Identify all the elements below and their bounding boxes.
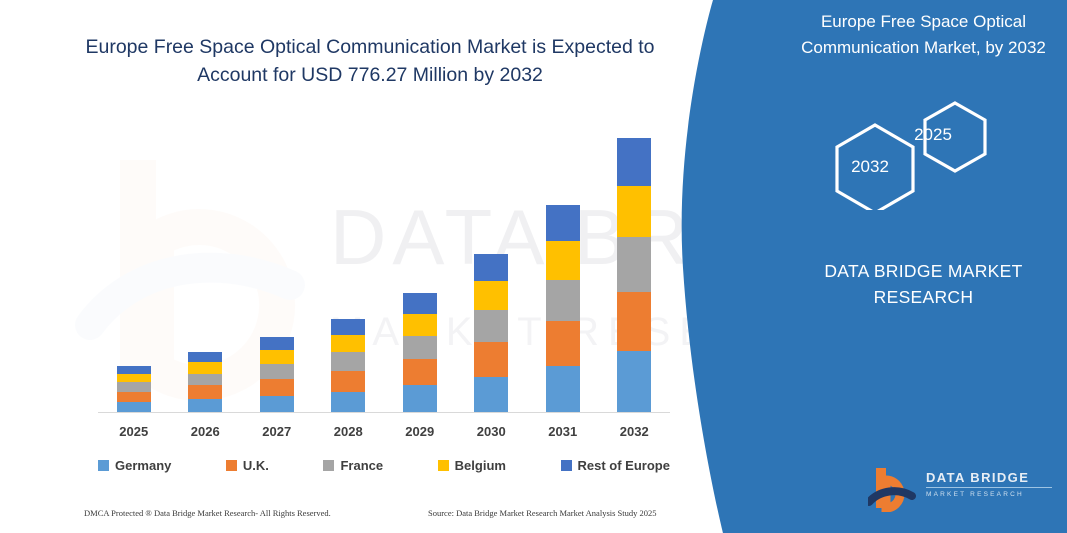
chart-bar-segment <box>546 280 580 321</box>
chart-bar-segment <box>617 138 651 185</box>
chart-x-tick-label: 2025 <box>98 424 170 439</box>
legend-item[interactable]: France <box>323 458 383 473</box>
footer-copyright: DMCA Protected ® Data Bridge Market Rese… <box>84 508 331 518</box>
chart-legend: GermanyU.K.FranceBelgiumRest of Europe <box>98 455 670 475</box>
hexagon-group <box>800 95 1050 210</box>
legend-label: U.K. <box>243 458 269 473</box>
chart-bar-segment <box>117 366 151 374</box>
logo-wordmark: DATA BRIDGE MARKET RESEARCH <box>926 470 1056 498</box>
chart-bar-segment <box>546 366 580 413</box>
chart-bar-segment <box>331 371 365 392</box>
chart-bar <box>546 205 580 413</box>
chart-x-axis <box>98 412 670 413</box>
legend-item[interactable]: Belgium <box>438 458 506 473</box>
chart-bar-segment <box>331 392 365 413</box>
chart-bar-segment <box>331 319 365 335</box>
chart-bar <box>117 366 151 413</box>
right-panel: Europe Free Space Optical Communication … <box>780 0 1067 533</box>
chart-bar-segment <box>617 351 651 413</box>
panel-title: Europe Free Space Optical Communication … <box>785 9 1062 60</box>
chart-x-tick-label: 2026 <box>169 424 241 439</box>
panel-brand-text: DATA BRIDGE MARKET RESEARCH <box>790 258 1057 311</box>
chart-bar-segment <box>117 392 151 402</box>
chart-bar-segment <box>617 292 651 351</box>
legend-item[interactable]: Rest of Europe <box>561 458 670 473</box>
chart-bar-segment <box>474 310 508 342</box>
hexagon-2025-label: 2025 <box>901 125 965 145</box>
chart-x-tick-label: 2029 <box>384 424 456 439</box>
footer: DMCA Protected ® Data Bridge Market Rese… <box>84 508 684 522</box>
chart-bar-segment <box>260 379 294 396</box>
infographic-canvas: DATA BRIDGE MARKET RESEARCH Europe Free … <box>0 0 1067 533</box>
chart-bar-segment <box>474 342 508 377</box>
legend-label: Rest of Europe <box>578 458 670 473</box>
legend-item[interactable]: U.K. <box>226 458 269 473</box>
chart-bar-segment <box>403 359 437 385</box>
chart-bar-segment <box>403 385 437 413</box>
legend-swatch-icon <box>438 460 449 471</box>
chart-bar-segment <box>260 396 294 413</box>
chart-bar-segment <box>546 241 580 280</box>
chart-bar-segment <box>474 377 508 413</box>
logo-divider <box>926 487 1052 488</box>
hexagon-2032-label: 2032 <box>835 157 905 177</box>
chart-bar-segment <box>546 205 580 241</box>
chart-bar-segment <box>260 337 294 350</box>
chart-bar-segment <box>260 350 294 364</box>
legend-item[interactable]: Germany <box>98 458 171 473</box>
chart-bar-segment <box>474 281 508 310</box>
chart-bar-segment <box>403 293 437 314</box>
chart-bar <box>188 352 222 413</box>
dbmr-b-logo-icon <box>868 466 920 512</box>
chart-bar-segment <box>403 314 437 336</box>
chart-bar-segment <box>188 352 222 362</box>
chart-bar <box>403 293 437 413</box>
chart-bar-segment <box>546 321 580 366</box>
brand-logo: DATA BRIDGE MARKET RESEARCH <box>868 466 1058 514</box>
chart-bar-segment <box>188 374 222 386</box>
chart-bar-segment <box>188 399 222 413</box>
chart-x-tick-label: 2027 <box>241 424 313 439</box>
chart-x-tick-label: 2031 <box>527 424 599 439</box>
chart-bar <box>260 337 294 413</box>
logo-name: DATA BRIDGE <box>926 470 1056 485</box>
chart-x-tick-label: 2028 <box>312 424 384 439</box>
chart-plot-area <box>98 120 670 413</box>
chart-bar-segment <box>331 352 365 371</box>
legend-swatch-icon <box>561 460 572 471</box>
chart-bar-segment <box>617 186 651 237</box>
logo-subtitle: MARKET RESEARCH <box>926 491 1056 498</box>
chart-bar-segment <box>117 382 151 391</box>
chart-bar-segment <box>117 374 151 383</box>
chart-bar-segment <box>260 364 294 379</box>
chart-bar <box>617 138 651 413</box>
chart-bar <box>331 319 365 413</box>
chart-x-tick-label: 2030 <box>455 424 527 439</box>
chart-title: Europe Free Space Optical Communication … <box>70 34 670 89</box>
chart-bar-segment <box>403 336 437 360</box>
chart-bar-segment <box>188 362 222 373</box>
chart-x-axis-labels: 20252026202720282029203020312032 <box>98 424 670 444</box>
chart-bar-segment <box>617 237 651 292</box>
chart-bar-segment <box>188 385 222 398</box>
footer-source: Source: Data Bridge Market Research Mark… <box>428 508 657 518</box>
legend-swatch-icon <box>226 460 237 471</box>
legend-label: Germany <box>115 458 171 473</box>
legend-swatch-icon <box>323 460 334 471</box>
chart-bar-segment <box>474 254 508 281</box>
legend-swatch-icon <box>98 460 109 471</box>
legend-label: Belgium <box>455 458 506 473</box>
chart-bar-segment <box>331 335 365 352</box>
legend-label: France <box>340 458 383 473</box>
chart-bar <box>474 254 508 413</box>
